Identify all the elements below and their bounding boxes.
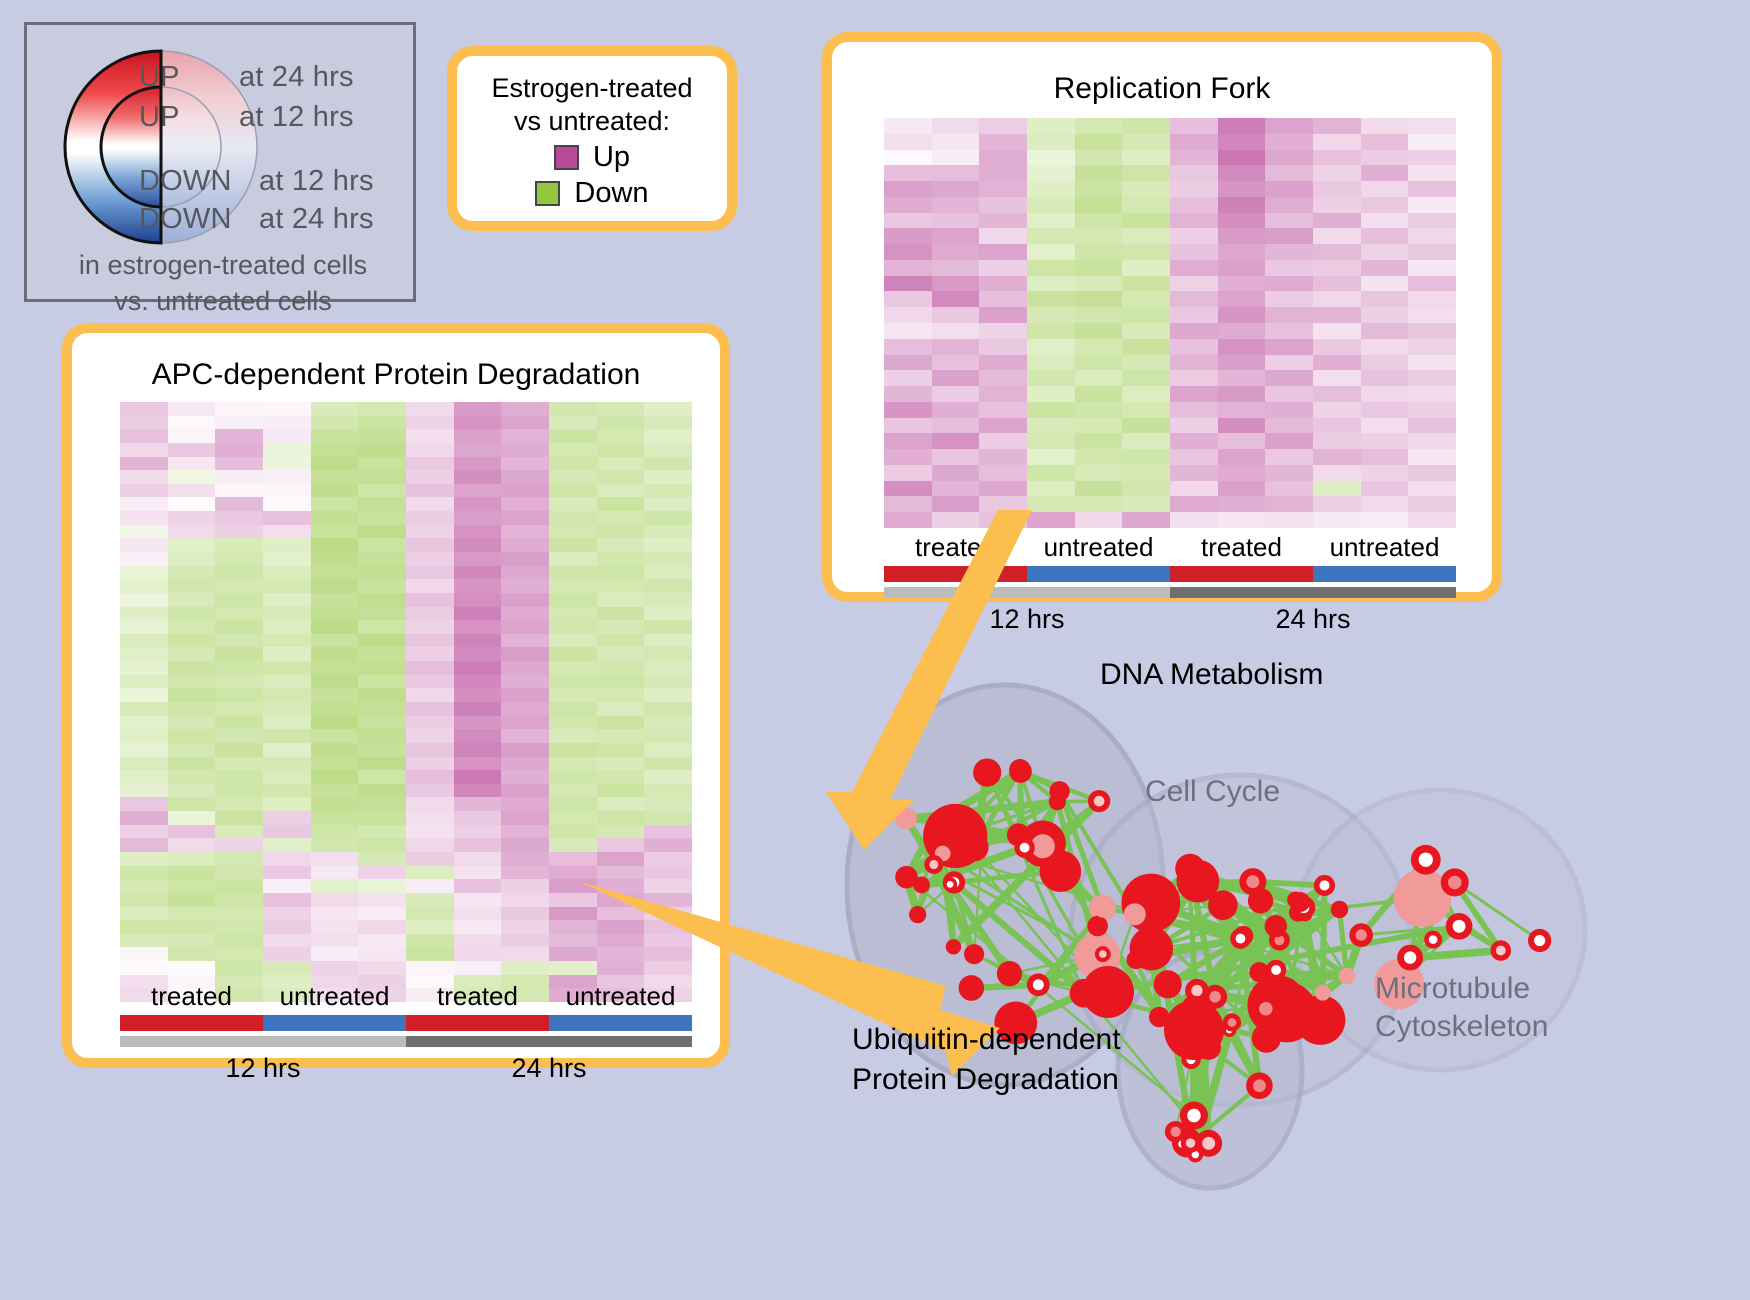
heatmap-cell [979, 291, 1027, 307]
heatmap-cell [1313, 323, 1361, 339]
heatmap-cell [1408, 134, 1456, 150]
heatmap-cell [358, 757, 406, 771]
heatmap-cell [358, 852, 406, 866]
heatmap-cell [454, 811, 502, 825]
group-label-untreated-12-apc: untreated [263, 981, 406, 1012]
key-label-up-24: UP [139, 61, 180, 94]
heatmap-cell [1075, 355, 1123, 371]
heatmap-cell [1218, 370, 1266, 386]
heatmap-cell [549, 429, 597, 443]
heatmap-cell [215, 961, 263, 975]
heatmap-cell [501, 647, 549, 661]
heatmap-cell [215, 675, 263, 689]
heatmap-cell [1313, 386, 1361, 402]
heatmap-cell [501, 566, 549, 580]
heatmap-cell [1075, 323, 1123, 339]
heatmap-cell [501, 552, 549, 566]
heatmap-cell [1170, 197, 1218, 213]
down-swatch-icon [535, 181, 560, 206]
heatmap-cell [454, 825, 502, 839]
heatmap-cell [311, 634, 359, 648]
heatmap-cell [358, 457, 406, 471]
heatmap-cell [1122, 181, 1170, 197]
heatmap-cell [1027, 449, 1075, 465]
heatmap-cell [263, 893, 311, 907]
heatmap-cell [1027, 134, 1075, 150]
heatmap-cell [932, 355, 980, 371]
heatmap-cell [120, 634, 168, 648]
heatmap-cell [215, 852, 263, 866]
group-label-treated-24-apc: treated [406, 981, 549, 1012]
heatmap-cell [311, 566, 359, 580]
legend-title-line1: Estrogen-treated [457, 72, 727, 105]
heatmap-cell [168, 607, 216, 621]
heatmap-cell [1408, 291, 1456, 307]
heatmap-cell [215, 620, 263, 634]
heatmap-cell [215, 729, 263, 743]
heatmap-cell [1122, 291, 1170, 307]
heatmap-cell [932, 307, 980, 323]
heatmap-cell [454, 961, 502, 975]
heatmap-cell [979, 276, 1027, 292]
heatmap-cell [1408, 197, 1456, 213]
heatmap-cell [979, 213, 1027, 229]
heatmap-cell [311, 457, 359, 471]
heatmap-cell [406, 716, 454, 730]
heatmap-cell [1218, 181, 1266, 197]
heatmap-cell [120, 825, 168, 839]
heatmap-cell [1265, 402, 1313, 418]
heatmap-cell [406, 852, 454, 866]
heatmap-cell [215, 702, 263, 716]
heatmap-cell [311, 729, 359, 743]
heatmap-cell [1218, 307, 1266, 323]
heatmap-cell [1122, 150, 1170, 166]
heatmap-cell [932, 370, 980, 386]
heatmap-cell [406, 443, 454, 457]
heatmap-cell [358, 634, 406, 648]
heatmap-cell [263, 429, 311, 443]
cluster-label-dna-metabolism: DNA Metabolism [1100, 658, 1323, 692]
heatmap-cell [168, 743, 216, 757]
heatmap-cell [1027, 386, 1075, 402]
heatmap-cell [884, 150, 932, 166]
heatmap-cell [168, 566, 216, 580]
heatmap-cell [501, 538, 549, 552]
heatmap-cell [358, 579, 406, 593]
heatmap-cell [1218, 433, 1266, 449]
heatmap-cell [263, 607, 311, 621]
heatmap-cell [1218, 418, 1266, 434]
heatmap-cell [501, 470, 549, 484]
heatmap-cell [215, 593, 263, 607]
heatmap-cell [1218, 291, 1266, 307]
heatmap-cell [215, 893, 263, 907]
heatmap-cell [1408, 244, 1456, 260]
heatmap-cell [263, 852, 311, 866]
group-label-treated-12-apc: treated [120, 981, 263, 1012]
heatmap-cell [932, 276, 980, 292]
heatmap-cell [1313, 260, 1361, 276]
heatmap-cell [454, 879, 502, 893]
heatmap-cell [120, 593, 168, 607]
heatmap-cell [1218, 260, 1266, 276]
heatmap-cell [1075, 260, 1123, 276]
heatmap-cell [1027, 465, 1075, 481]
heatmap-cell [215, 825, 263, 839]
heatmap-cell [1408, 260, 1456, 276]
heatmap-cell [263, 797, 311, 811]
heatmap-cell [1218, 339, 1266, 355]
heatmap-cell [1265, 291, 1313, 307]
heatmap-cell [501, 511, 549, 525]
heatmap-cell [1170, 370, 1218, 386]
heatmap-cell [406, 647, 454, 661]
heatmap-cell [215, 470, 263, 484]
heatmap-cell [501, 907, 549, 921]
heatmap-cell [311, 484, 359, 498]
heatmap-cell [979, 197, 1027, 213]
heatmap-cell [1075, 418, 1123, 434]
heatmap-cell [1408, 276, 1456, 292]
heatmap-cell [168, 934, 216, 948]
heatmap-cell [358, 879, 406, 893]
heatmap-cell [501, 797, 549, 811]
heatmap-cell [1075, 449, 1123, 465]
heatmap-cell [215, 688, 263, 702]
heatmap-cell [1265, 276, 1313, 292]
heatmap-cell [454, 947, 502, 961]
heatmap-cell [1027, 307, 1075, 323]
heatmap-cell [1265, 244, 1313, 260]
heatmap-cell [1075, 181, 1123, 197]
heatmap-cell [501, 852, 549, 866]
heatmap-cell [1361, 449, 1409, 465]
heatmap-cell [884, 228, 932, 244]
color-key-caption-line1: in estrogen-treated cells [27, 247, 419, 283]
heatmap-cell [454, 607, 502, 621]
heatmap-cell [406, 702, 454, 716]
heatmap-cell [168, 552, 216, 566]
heatmap-cell [120, 947, 168, 961]
heatmap-cell [311, 675, 359, 689]
heatmap-cell [1361, 339, 1409, 355]
heatmap-cell [501, 961, 549, 975]
heatmap-cell [1218, 481, 1266, 497]
heatmap-cell [1408, 213, 1456, 229]
heatmap-cell [979, 370, 1027, 386]
heatmap-cell [406, 893, 454, 907]
heatmap-cell [979, 150, 1027, 166]
heatmap-cell [168, 538, 216, 552]
heatmap-cell [358, 661, 406, 675]
heatmap-cell [884, 339, 932, 355]
heatmap-cell [454, 470, 502, 484]
heatmap-cell [1170, 213, 1218, 229]
heatmap-cell [597, 443, 645, 457]
heatmap-cell [358, 416, 406, 430]
heatmap-cell [120, 538, 168, 552]
legend-item-down: Down [457, 177, 727, 210]
heatmap-cell [1265, 433, 1313, 449]
heatmap-cell [1122, 228, 1170, 244]
heatmap-cell [168, 770, 216, 784]
heatmap-cell [215, 811, 263, 825]
heatmap-cell [1313, 150, 1361, 166]
heatmap-cell [215, 879, 263, 893]
heatmap-cell [120, 443, 168, 457]
heatmap-cell [358, 497, 406, 511]
heatmap-cell [454, 661, 502, 675]
heatmap-cell [120, 743, 168, 757]
heatmap-cell [549, 484, 597, 498]
heatmap-cell [1170, 150, 1218, 166]
heatmap-cell [263, 538, 311, 552]
heatmap-cell [1361, 228, 1409, 244]
heatmap-cell [120, 852, 168, 866]
heatmap-cell [311, 607, 359, 621]
heatmap-cell [979, 386, 1027, 402]
heatmap-cell [501, 729, 549, 743]
heatmap-cell [263, 620, 311, 634]
heatmap-cell [1265, 197, 1313, 213]
heatmap-cell [884, 134, 932, 150]
heatmap-cell [1170, 134, 1218, 150]
heatmap-cell [263, 770, 311, 784]
heatmap-cell [1265, 165, 1313, 181]
key-time-up-12: at 12 hrs [239, 101, 354, 134]
heatmap-cell [1313, 370, 1361, 386]
heatmap-cell [120, 838, 168, 852]
heatmap-cell [1218, 165, 1266, 181]
heatmap-cell [1170, 465, 1218, 481]
heatmap-cell [1122, 307, 1170, 323]
heatmap-cell [884, 355, 932, 371]
heatmap-cell [884, 481, 932, 497]
heatmap-cell [1075, 433, 1123, 449]
heatmap-cell [215, 934, 263, 948]
heatmap-cell [311, 811, 359, 825]
heatmap-cell [1265, 213, 1313, 229]
heatmap-cell [406, 866, 454, 880]
heatmap-cell [501, 634, 549, 648]
heatmap-cell [120, 893, 168, 907]
figure-canvas: UP at 24 hrs UP at 12 hrs DOWN at 12 hrs… [0, 0, 1750, 1279]
heatmap-cell [1075, 307, 1123, 323]
heatmap-cell [406, 743, 454, 757]
heatmap-cell [1218, 150, 1266, 166]
heatmap-cell [1075, 213, 1123, 229]
heatmap-cell [1408, 402, 1456, 418]
heatmap-cell [1122, 355, 1170, 371]
heatmap-cell [120, 716, 168, 730]
heatmap-cell [549, 457, 597, 471]
heatmap-cell [1170, 118, 1218, 134]
heatmap-cell [979, 339, 1027, 355]
heatmap-cell [168, 525, 216, 539]
heatmap-cell [501, 947, 549, 961]
heatmap-cell [501, 620, 549, 634]
heatmap-cell [168, 852, 216, 866]
heatmap-cell [406, 729, 454, 743]
heatmap-cell [406, 934, 454, 948]
heatmap-cell [1265, 307, 1313, 323]
heatmap-cell [1313, 244, 1361, 260]
heatmap-cell [168, 961, 216, 975]
heatmap-cell [120, 702, 168, 716]
heatmap-cell [215, 538, 263, 552]
heatmap-cell [215, 634, 263, 648]
heatmap-cell [406, 688, 454, 702]
heatmap-cell [1027, 402, 1075, 418]
heatmap-cell [215, 484, 263, 498]
heatmap-cell [454, 934, 502, 948]
heatmap-cell [1361, 260, 1409, 276]
heatmap-cell [120, 429, 168, 443]
heatmap-cell [1122, 433, 1170, 449]
heatmap-cell [311, 961, 359, 975]
heatmap-cell [311, 579, 359, 593]
heatmap-cell [311, 934, 359, 948]
heatmap-cell [1122, 418, 1170, 434]
heatmap-cell [454, 702, 502, 716]
heatmap-cell [311, 470, 359, 484]
heatmap-cell [168, 920, 216, 934]
heatmap-cell [1170, 433, 1218, 449]
heatmap-cell [358, 893, 406, 907]
heatmap-cell [979, 481, 1027, 497]
heatmap-cell [406, 770, 454, 784]
heatmap-cell [1313, 402, 1361, 418]
color-key-caption: in estrogen-treated cells vs. untreated … [27, 247, 419, 319]
heatmap-cell [263, 634, 311, 648]
heatmap-cell [1361, 213, 1409, 229]
heatmap-cell [168, 797, 216, 811]
heatmap-cell [454, 893, 502, 907]
heatmap-cell [358, 552, 406, 566]
heatmap-cell [979, 433, 1027, 449]
heatmap-cell [454, 634, 502, 648]
heatmap-cell [979, 118, 1027, 134]
up-swatch-icon [554, 145, 579, 170]
heatmap-cell [358, 920, 406, 934]
heatmap-cell [1361, 323, 1409, 339]
heatmap-cell [263, 593, 311, 607]
heatmap-cell [884, 213, 932, 229]
heatmap-cell [1170, 339, 1218, 355]
heatmap-cell [358, 797, 406, 811]
heatmap-cell [168, 757, 216, 771]
heatmap-cell [120, 402, 168, 416]
heatmap-cell [263, 866, 311, 880]
heatmap-cell [1361, 150, 1409, 166]
heatmap-cell [358, 538, 406, 552]
heatmap-cell [979, 134, 1027, 150]
heatmap-cell [1408, 165, 1456, 181]
heatmap-cell [311, 947, 359, 961]
heatmap-cell [406, 538, 454, 552]
heatmap-cell [549, 470, 597, 484]
heatmap-cell [358, 647, 406, 661]
heatmap-cell [1361, 481, 1409, 497]
heatmap-cell [168, 484, 216, 498]
heatmap-cell [1075, 370, 1123, 386]
heatmap-cell [168, 784, 216, 798]
heatmap-cell [311, 702, 359, 716]
heatmap-cell [454, 402, 502, 416]
legend-title-line2: vs untreated: [457, 105, 727, 138]
heatmap-cell [120, 688, 168, 702]
heatmap-cell [1122, 402, 1170, 418]
heatmap-cell [1361, 165, 1409, 181]
heatmap-cell [454, 566, 502, 580]
heatmap-cell [406, 811, 454, 825]
heatmap-cell [1027, 339, 1075, 355]
key-label-down-12: DOWN [139, 165, 232, 198]
heatmap-cell [454, 716, 502, 730]
heatmap-cell [932, 244, 980, 260]
heatmap-cell [311, 797, 359, 811]
rail-untreated-12-apc [263, 1015, 406, 1031]
heatmap-cell [263, 647, 311, 661]
heatmap-cell [311, 416, 359, 430]
heatmap-cell [1218, 134, 1266, 150]
heatmap-cell [1408, 386, 1456, 402]
heatmap-cell [311, 893, 359, 907]
heatmap-cell [1075, 291, 1123, 307]
heatmap-cell [1265, 228, 1313, 244]
heatmap-cell [120, 729, 168, 743]
heatmap-cell [501, 429, 549, 443]
heatmap-cell [644, 402, 692, 416]
heatmap-cell [168, 688, 216, 702]
heatmap-cell [1408, 370, 1456, 386]
heatmap-cell [1265, 118, 1313, 134]
heatmap-cell [168, 716, 216, 730]
heatmap-cell [454, 797, 502, 811]
heatmap-cell [358, 470, 406, 484]
heatmap-cell [311, 879, 359, 893]
rail-12hrs-apc [120, 1036, 406, 1047]
heatmap-cell [168, 416, 216, 430]
heatmap-cell [501, 661, 549, 675]
heatmap-cell [215, 402, 263, 416]
heatmap-cell [120, 661, 168, 675]
heatmap-cell [311, 852, 359, 866]
heatmap-cell [215, 947, 263, 961]
heatmap-cell [311, 907, 359, 921]
heatmap-cell [932, 213, 980, 229]
heatmap-cell [358, 743, 406, 757]
heatmap-cell [501, 716, 549, 730]
heatmap-cell [311, 538, 359, 552]
heatmap-cell [168, 838, 216, 852]
heatmap-cell [501, 811, 549, 825]
heatmap-cell [932, 449, 980, 465]
heatmap-cell [1075, 118, 1123, 134]
heatmap-cell [406, 457, 454, 471]
heatmap-cell [1313, 181, 1361, 197]
heatmap-cell [120, 866, 168, 880]
heatmap-cell [454, 484, 502, 498]
heatmap-cell [1170, 355, 1218, 371]
heatmap-cell [501, 457, 549, 471]
heatmap-cell [120, 566, 168, 580]
heatmap-cell [120, 579, 168, 593]
legend-label-up: Up [593, 141, 630, 174]
heatmap-cell [1170, 244, 1218, 260]
heatmap-cell [1027, 481, 1075, 497]
